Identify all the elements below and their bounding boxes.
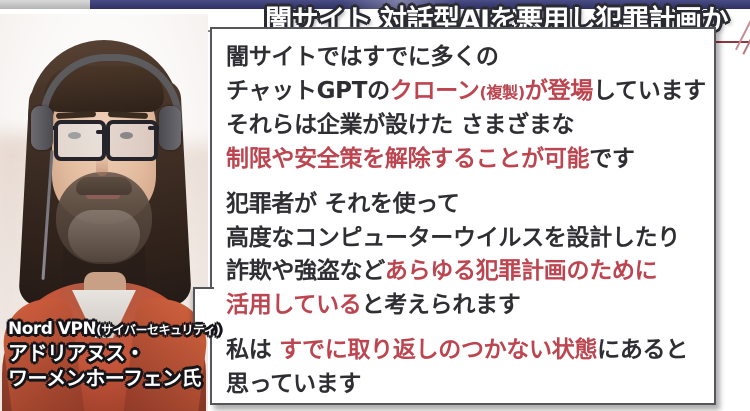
quote-run: 闇サイトではすでに多くの: [226, 44, 499, 70]
headphones-cup-right-icon: [159, 106, 181, 150]
speaker-beard-highlight: [68, 210, 140, 262]
quote-highlight-run: が登場: [525, 78, 593, 104]
quote-run: 私は: [226, 337, 279, 363]
top-band-left: [0, 0, 90, 9]
quote-line: 制限や安全策を解除することが可能です: [226, 143, 706, 177]
quote-run: チャットGPTの: [226, 78, 390, 104]
quote-run: 犯罪者が それを使って: [226, 191, 460, 217]
speaker-moustache: [76, 177, 132, 195]
quote-text-body: 闇サイトではすでに多くのチャットGPTのクローン(複製)が登場していますそれらは…: [226, 41, 706, 401]
quote-line: それらは企業が設けた さまざまな: [226, 109, 706, 143]
quote-paragraph: 犯罪者が それを使って高度なコンピューターウイルスを設計したり詐欺や強盗などあら…: [226, 188, 706, 322]
speaker-organization-role: (サイバーセキュリティ): [96, 323, 220, 337]
quote-run: 高度なコンピューターウイルスを設計したり: [226, 225, 680, 251]
quote-paragraph: 私は すでに取り返しのつかない状態にあると思っています: [226, 334, 706, 401]
quote-line: 思っています: [226, 368, 706, 402]
quote-run: です: [589, 146, 634, 172]
quote-highlight-run: 制限や安全策を解除することが可能: [226, 146, 589, 172]
quote-line: 高度なコンピューターウイルスを設計したり: [226, 222, 706, 256]
headphones-cup-left-icon: [31, 106, 53, 150]
quote-line: 私は すでに取り返しのつかない状態にあると: [226, 334, 706, 368]
quote-run: 詐欺や強盗など: [226, 258, 385, 284]
quote-highlight-run: (複製): [479, 83, 524, 102]
speaker-organization-name: Nord VPN: [8, 319, 96, 339]
quote-run: しています: [593, 78, 706, 104]
quote-highlight-run: 活用している: [226, 292, 362, 318]
quote-line: チャットGPTのクローン(複製)が登場しています: [226, 75, 706, 110]
quote-run: と考えられます: [362, 292, 521, 318]
quote-highlight-run: クローン: [390, 78, 480, 104]
quote-line: 犯罪者が それを使って: [226, 188, 706, 222]
speaker-name-line1: アドリアヌス・: [8, 341, 208, 366]
quote-run: にあると: [597, 337, 688, 363]
quote-run: 思っています: [226, 371, 361, 397]
quote-highlight-run: すでに取り返しのつかない状態: [279, 337, 597, 363]
speaker-caption: Nord VPN(サイバーセキュリティ) アドリアヌス・ ワーメンホーフェン氏: [8, 318, 208, 391]
quote-speech-bubble: 闇サイトではすでに多くのチャットGPTのクローン(複製)が登場していますそれらは…: [210, 27, 716, 405]
quote-highlight-run: あらゆる犯罪計画のために: [385, 258, 657, 284]
quote-run: それらは企業が設けた さまざまな: [226, 112, 574, 138]
quote-line: 活用していると考えられます: [226, 289, 706, 323]
speech-bubble-tail-mask: [212, 289, 216, 325]
quote-line: 詐欺や強盗などあらゆる犯罪計画のために: [226, 255, 706, 289]
speaker-name-line2: ワーメンホーフェン氏: [8, 366, 208, 391]
quote-paragraph: 闇サイトではすでに多くのチャットGPTのクローン(複製)が登場していますそれらは…: [226, 41, 706, 176]
speaker-organization: Nord VPN(サイバーセキュリティ): [8, 318, 208, 341]
broadcast-screen: 闇サイト 対話型AIを悪用し犯罪計画か: [0, 0, 750, 411]
quote-line: 闇サイトではすでに多くの: [226, 41, 706, 75]
